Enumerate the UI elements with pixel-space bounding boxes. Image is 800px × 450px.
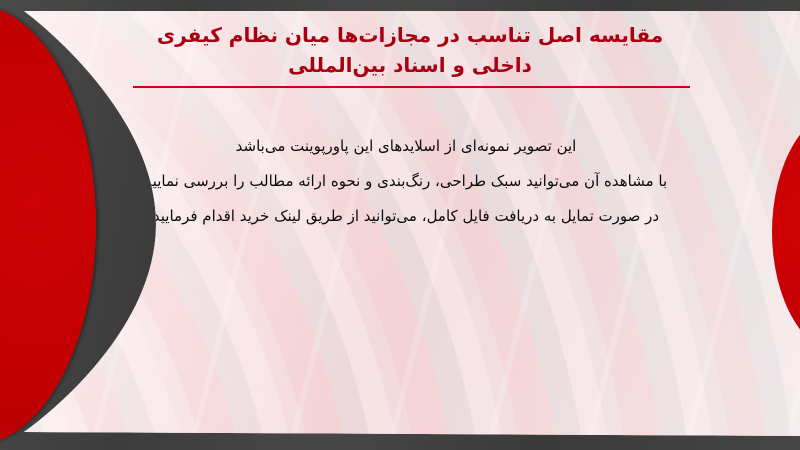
slide-title-line-2: داخلی و اسناد بین‌المللی [130,50,690,80]
slide-body-text: این تصویر نمونه‌ای از اسلایدهای این پاور… [116,129,696,234]
slide-canvas: مقایسه اصل تناسب در مجازات‌ها میان نظام … [0,0,800,450]
title-underline-divider [133,86,690,88]
slide-body-line-2: با مشاهده آن می‌توانید سبک طراحی، رنگ‌بن… [116,164,696,199]
slide-body-line-1: این تصویر نمونه‌ای از اسلایدهای این پاور… [116,129,696,164]
slide-body-line-3: در صورت تمایل به دریافت فایل کامل، می‌تو… [116,199,696,234]
slide-title: مقایسه اصل تناسب در مجازات‌ها میان نظام … [130,20,690,80]
slide-title-line-1: مقایسه اصل تناسب در مجازات‌ها میان نظام … [130,20,690,50]
